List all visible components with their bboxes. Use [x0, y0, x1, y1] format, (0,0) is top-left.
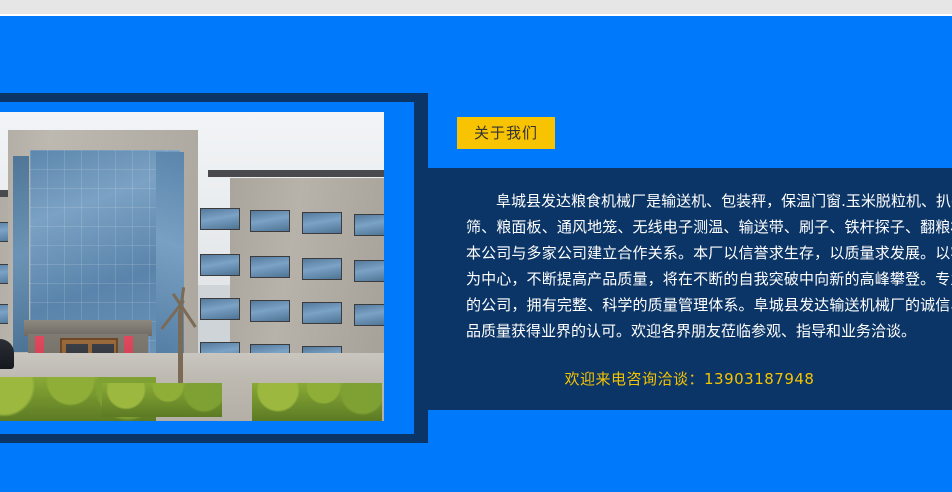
photo-window	[200, 208, 240, 230]
photo-window	[302, 302, 342, 324]
page-canvas: 关于我们 阜城县发达粮食机械厂是输送机、包装秤，保温门窗.玉米脱粒机、扒谷机、清…	[0, 16, 952, 492]
contact-phone-line[interactable]: 欢迎来电咨询洽谈：13903187948	[427, 368, 952, 390]
browser-chrome-band	[0, 0, 952, 14]
photo-hedge	[252, 383, 382, 421]
photo-window	[354, 260, 384, 282]
photo-window	[302, 212, 342, 234]
photo-window	[200, 298, 240, 320]
photo-window	[354, 214, 384, 236]
page-root: 关于我们 阜城县发达粮食机械厂是输送机、包装秤，保温门窗.玉米脱粒机、扒谷机、清…	[0, 0, 952, 492]
photo-roof-rail-right	[208, 170, 384, 177]
about-text-panel: 阜城县发达粮食机械厂是输送机、包装秤，保温门窗.玉米脱粒机、扒谷机、清理筛、粮面…	[427, 168, 952, 410]
photo-frame-inner	[0, 102, 414, 434]
company-building-photo	[0, 112, 384, 421]
photo-window	[250, 210, 290, 232]
photo-window	[302, 258, 342, 280]
photo-window	[250, 300, 290, 322]
photo-hedge	[102, 383, 222, 417]
photo-window	[250, 256, 290, 278]
photo-window	[354, 304, 384, 326]
photo-frame	[0, 93, 428, 443]
about-us-button[interactable]: 关于我们	[457, 117, 555, 149]
about-body-text: 阜城县发达粮食机械厂是输送机、包装秤，保温门窗.玉米脱粒机、扒谷机、清理筛、粮面…	[466, 188, 952, 344]
photo-window	[200, 254, 240, 276]
